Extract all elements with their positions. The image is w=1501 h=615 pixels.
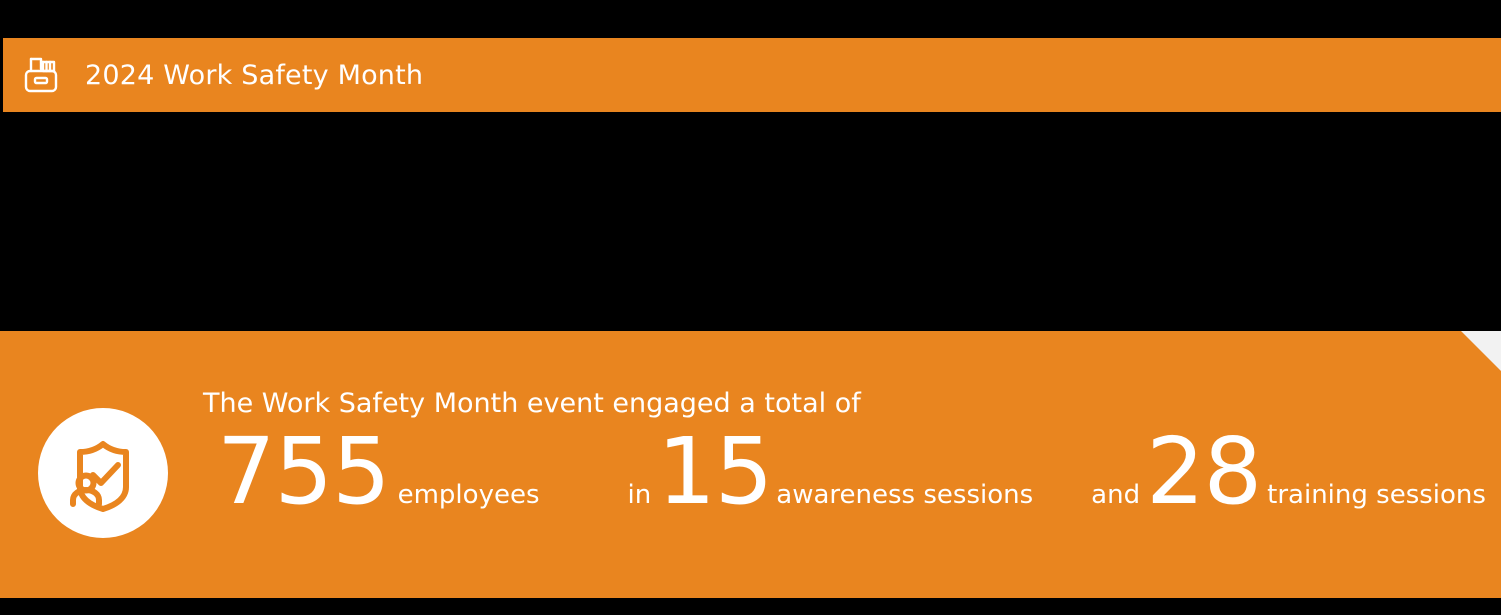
metric-training-number: 28: [1146, 433, 1261, 511]
headline-text: The Work Safety Month event engaged a to…: [203, 389, 1487, 419]
metric-training-label: training sessions: [1267, 480, 1486, 510]
metric-employees: 755 employees: [203, 433, 540, 511]
badge-circle: [38, 408, 168, 538]
stats-content: The Work Safety Month event engaged a to…: [0, 331, 1501, 598]
page-title: 2024 Work Safety Month: [85, 62, 423, 89]
metric-employees-label: employees: [398, 480, 540, 510]
metric-training-sessions: and 28 training sessions: [1091, 433, 1486, 511]
stats-panel: The Work Safety Month event engaged a to…: [0, 331, 1501, 598]
metric-awareness-prefix: in: [628, 480, 652, 510]
archive-box-icon: [19, 53, 63, 97]
metrics-row: 755 employees in 15 awareness sessions a…: [203, 433, 1487, 511]
metric-employees-number: 755: [217, 433, 390, 511]
metric-awareness-sessions: in 15 awareness sessions: [628, 433, 1034, 511]
stats-text-block: The Work Safety Month event engaged a to…: [203, 389, 1487, 511]
metric-training-prefix: and: [1091, 480, 1140, 510]
shield-check-person-icon: [60, 430, 146, 516]
metric-awareness-number: 15: [657, 433, 772, 511]
header-bar: 2024 Work Safety Month: [3, 38, 1501, 112]
metric-awareness-label: awareness sessions: [776, 480, 1033, 510]
